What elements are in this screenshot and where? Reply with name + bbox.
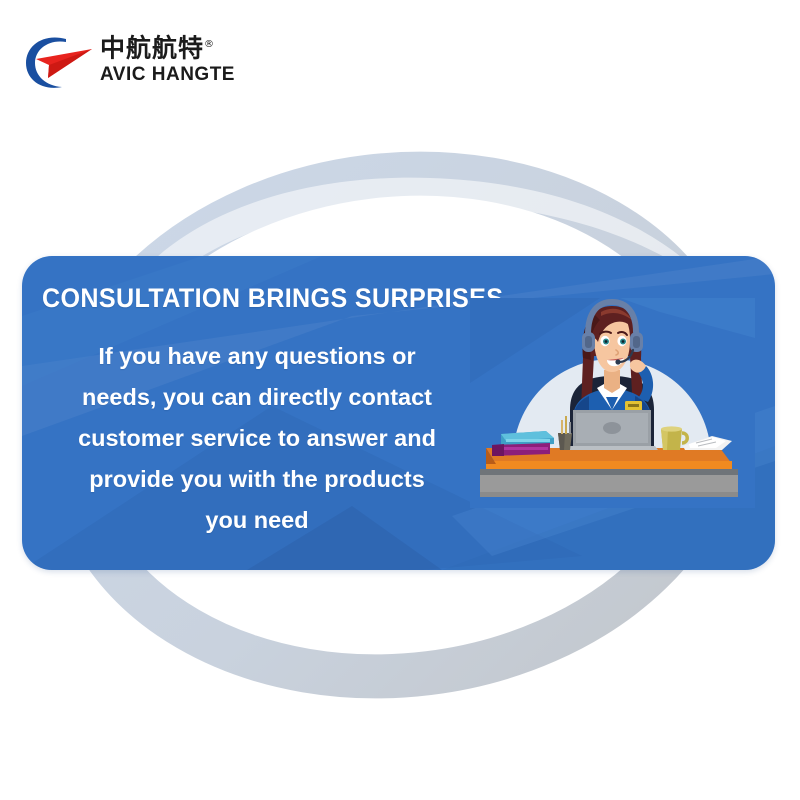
laptop-base bbox=[566, 446, 658, 450]
card-text-column: CONSULTATION BRINGS SURPRISES If you hav… bbox=[22, 256, 492, 570]
desk-front-shadow bbox=[480, 492, 738, 497]
book-blue-stripe bbox=[506, 439, 550, 442]
card-body-copy: If you have any questions or needs, you … bbox=[50, 336, 464, 541]
body-line-2: needs, you can directly contact bbox=[50, 377, 464, 418]
pencil-2 bbox=[565, 416, 567, 434]
laptop-logo-icon bbox=[603, 422, 621, 434]
body-line-5: you need bbox=[50, 500, 464, 541]
pencil-1 bbox=[561, 420, 563, 434]
book-purple-spine bbox=[492, 444, 504, 456]
logo-chinese-name: 中航航特® bbox=[100, 30, 245, 63]
body-line-3: customer service to answer and bbox=[50, 418, 464, 459]
coffee-mug-rim bbox=[661, 426, 682, 431]
registered-trademark-icon: ® bbox=[204, 39, 215, 50]
brand-logo[interactable]: 中航航特® AVIC HANGTE bbox=[22, 30, 242, 98]
banner-canvas: 中航航特® AVIC HANGTE CONSULTATION BRINGS SU… bbox=[0, 0, 800, 800]
desk-edge bbox=[486, 461, 732, 469]
logo-mark-icon bbox=[22, 32, 98, 92]
body-line-4: provide you with the products bbox=[50, 459, 464, 500]
promo-card: CONSULTATION BRINGS SURPRISES If you hav… bbox=[22, 256, 775, 570]
pupil-right bbox=[622, 340, 625, 343]
headset-microphone-icon bbox=[615, 359, 620, 364]
headset-earcup-right-inner bbox=[633, 336, 640, 348]
name-badge-line bbox=[628, 404, 639, 407]
pencil-3 bbox=[569, 422, 571, 434]
card-headline: CONSULTATION BRINGS SURPRISES bbox=[42, 282, 442, 314]
logo-wordmark: 中航航特® AVIC HANGTE bbox=[100, 30, 245, 86]
illustration-svg bbox=[470, 298, 755, 508]
desk-front-top bbox=[480, 469, 738, 475]
headset-earcup-left-inner bbox=[585, 336, 592, 348]
logo-english-name: AVIC HANGTE bbox=[100, 63, 245, 86]
body-line-1: If you have any questions or bbox=[50, 336, 464, 377]
pupil-left bbox=[605, 340, 608, 343]
customer-service-illustration bbox=[470, 298, 755, 508]
